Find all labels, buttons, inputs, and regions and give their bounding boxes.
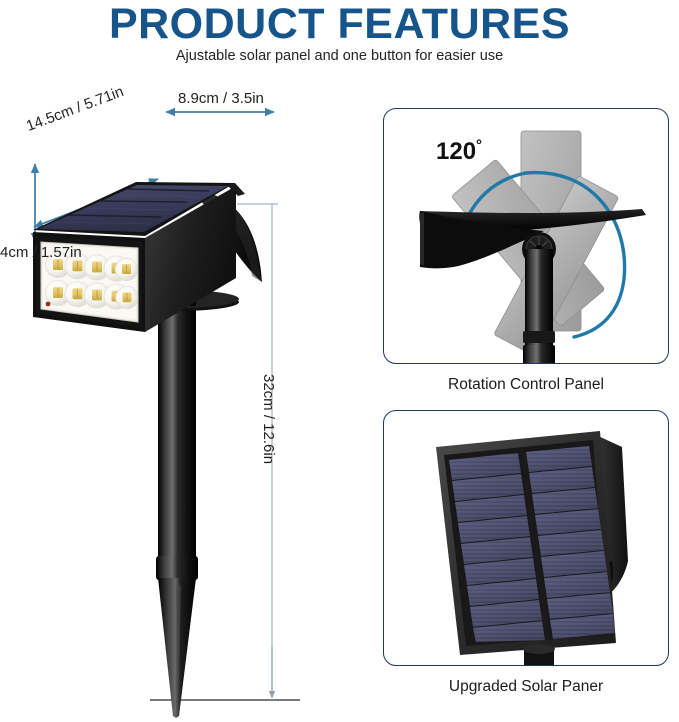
solar-spotlight-illustration (0, 86, 372, 722)
page-title: PRODUCT FEATURES (0, 2, 679, 46)
dimension-label-width: 8.9cm / 3.5in (178, 90, 264, 107)
rotation-angle-label: 120° (436, 137, 482, 166)
light-sensor-icon (46, 302, 51, 307)
led-cell (115, 258, 137, 280)
led-cell (116, 286, 138, 308)
pole-segment (523, 249, 555, 364)
degree-icon: ° (476, 137, 482, 154)
feature-caption-solar-panel: Upgraded Solar Paner (383, 678, 669, 696)
rotation-angle-value: 120 (436, 138, 476, 165)
feature-caption-rotation: Rotation Control Panel (383, 376, 669, 394)
feature-card-rotation: 120° (383, 108, 669, 364)
page-subtitle: Ajustable solar panel and one button for… (0, 47, 679, 65)
rotation-diagram (384, 109, 669, 364)
feature-card-solar-panel (383, 410, 669, 666)
header: PRODUCT FEATURES Ajustable solar panel a… (0, 0, 679, 86)
dimension-label-head-height: 4cm / 1.57in (0, 244, 82, 261)
pole-stub (523, 644, 555, 666)
product-illustration-panel: 8.9cm / 3.5in 14.5cm / 5.71in 4cm / 1.57… (0, 86, 372, 722)
dimension-label-total-length: 32cm / 12.6in (260, 374, 277, 464)
upgraded-solar-panel-diagram (384, 411, 669, 666)
